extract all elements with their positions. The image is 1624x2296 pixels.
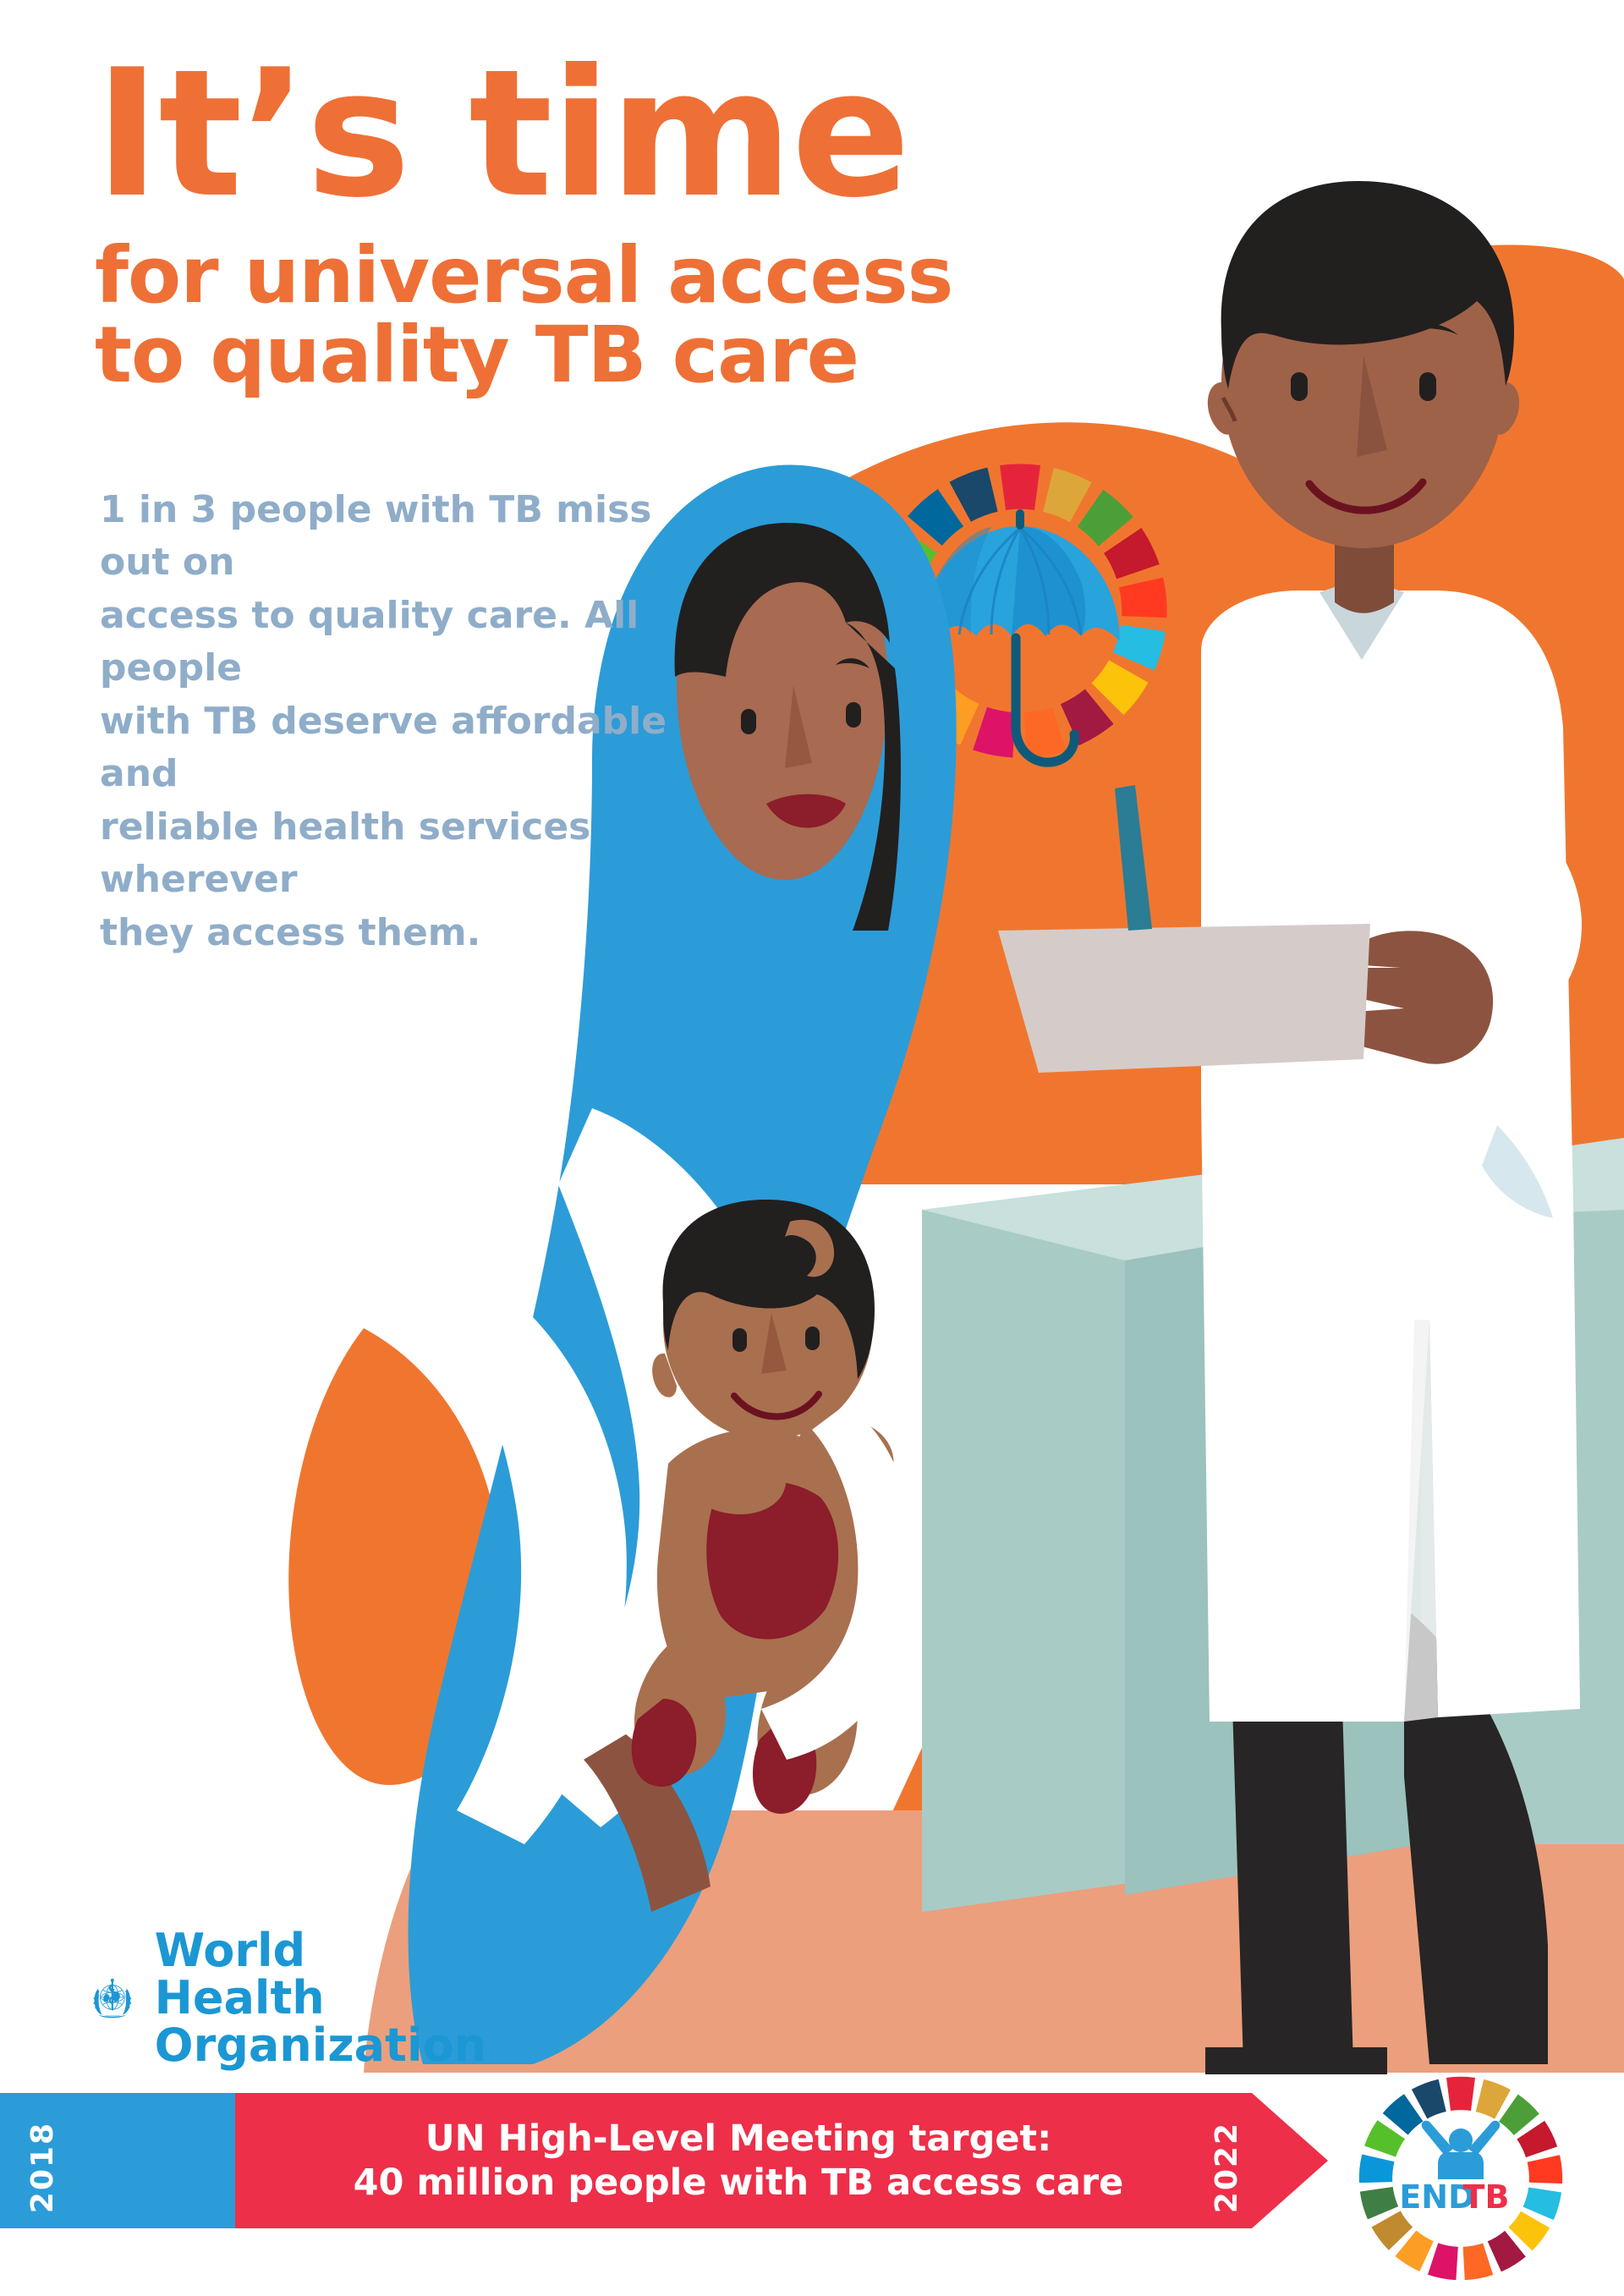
baby-eye-left (732, 1328, 747, 1352)
mother-eye-right (846, 702, 861, 728)
mother-eye-left (741, 709, 756, 734)
umbrella-tip (1016, 509, 1024, 530)
doctor-coat (1201, 590, 1580, 1722)
poster-illustration (0, 0, 1624, 2296)
baby-figure (632, 1200, 915, 1814)
tb-awareness-poster: It’s time for universal access to qualit… (0, 0, 1624, 2296)
clipboard-paper (998, 924, 1370, 1073)
doctor-eye-right (1419, 372, 1436, 401)
doctor-shoe-left (1205, 2047, 1387, 2074)
baby-eye-right (805, 1327, 820, 1350)
doctor-eye-left (1291, 372, 1308, 401)
